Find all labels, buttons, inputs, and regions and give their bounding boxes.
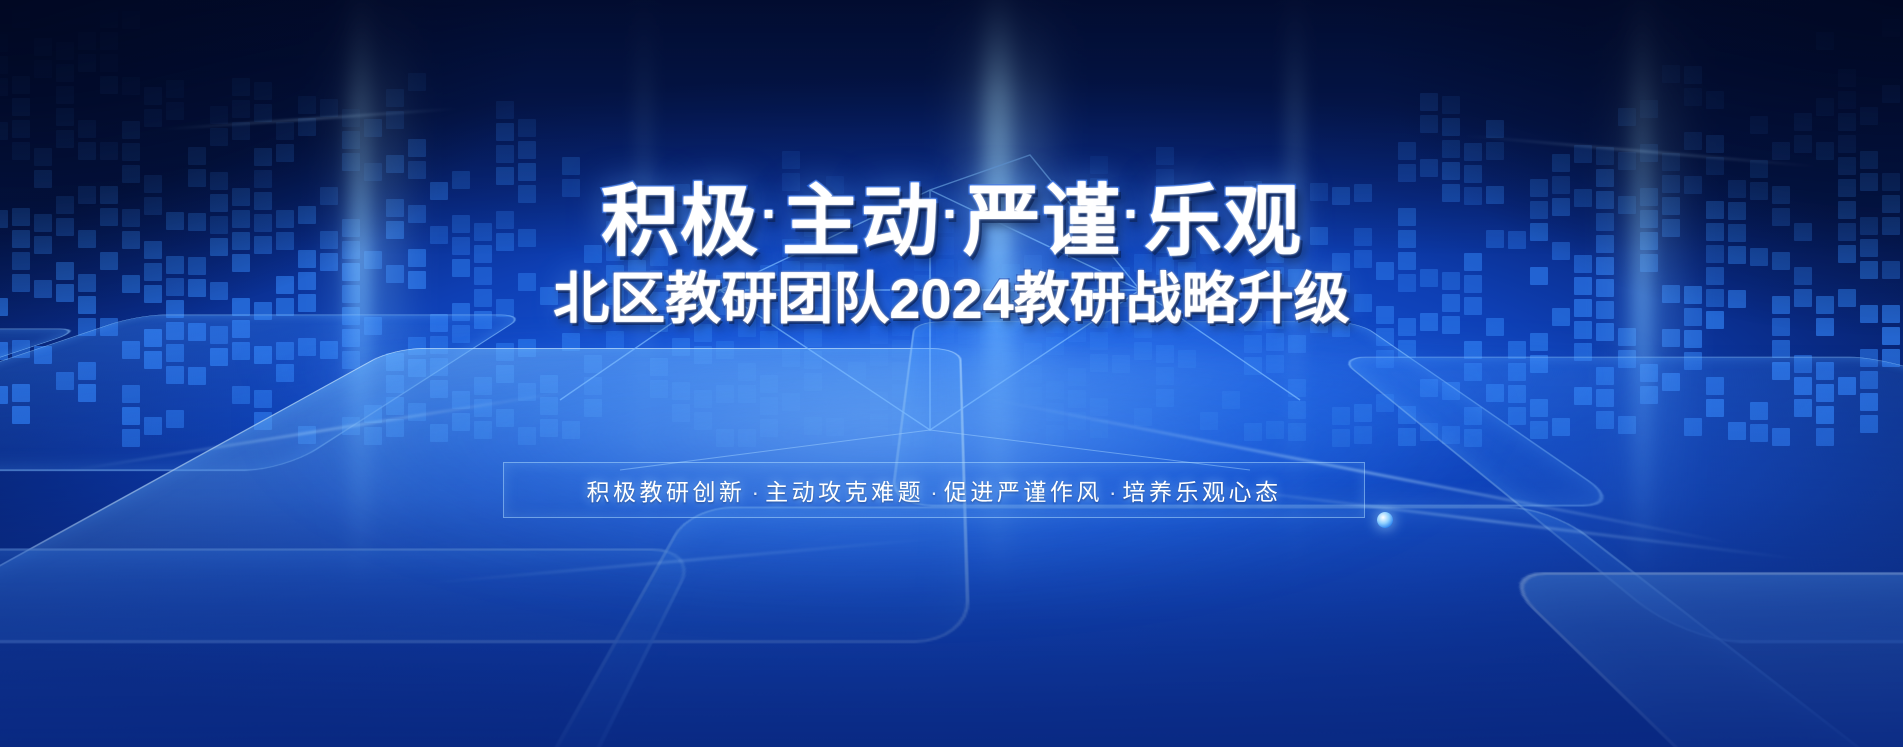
- headline-separator-3: ·: [1123, 184, 1142, 244]
- tagline-separator-3: ·: [1109, 479, 1117, 505]
- banner-headline: 积极·主动·严谨·乐观: [0, 0, 1903, 262]
- tagline-text: 积极教研创新·主动攻克难题·促进严谨作风·培养乐观心态: [586, 473, 1281, 507]
- tagline-item-1: 积极教研创新: [586, 479, 745, 505]
- glow-dot-icon: [1377, 512, 1393, 528]
- hero-banner: 积极·主动·严谨·乐观 北区教研团队2024教研战略升级 积极教研创新·主动攻克…: [0, 0, 1903, 747]
- tagline-separator-2: ·: [930, 479, 938, 505]
- tagline-item-3: 促进严谨作风: [944, 479, 1103, 505]
- headline-separator-2: ·: [942, 184, 961, 244]
- headline-word-1: 积极: [601, 177, 759, 265]
- headline-separator-1: ·: [761, 184, 780, 244]
- banner-content: 积极·主动·严谨·乐观 北区教研团队2024教研战略升级: [0, 0, 1903, 329]
- tagline-box: 积极教研创新·主动攻克难题·促进严谨作风·培养乐观心态: [503, 462, 1365, 518]
- headline-word-2: 主动: [782, 177, 940, 265]
- banner-subheadline: 北区教研团队2024教研战略升级: [0, 268, 1903, 330]
- tagline-item-4: 培养乐观心态: [1123, 479, 1282, 505]
- tagline-separator-1: ·: [751, 479, 759, 505]
- headline-word-3: 严谨: [963, 177, 1121, 265]
- tagline-item-2: 主动攻克难题: [765, 479, 924, 505]
- headline-word-4: 乐观: [1144, 177, 1302, 265]
